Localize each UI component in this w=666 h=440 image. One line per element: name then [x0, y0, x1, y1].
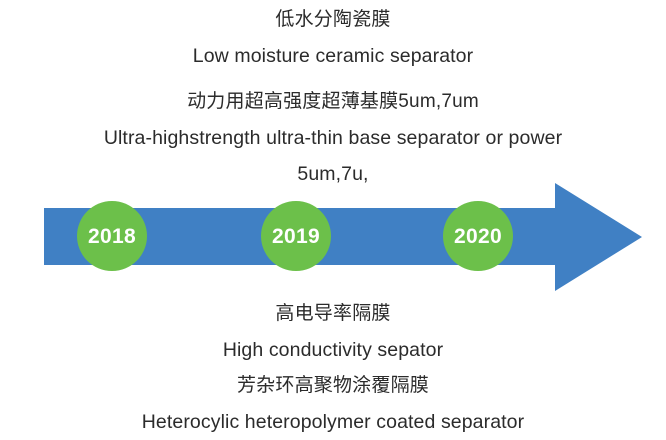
top-text-line-1: 低水分陶瓷膜 — [0, 2, 666, 38]
timeline-diagram: 低水分陶瓷膜 Low moisture ceramic separator 动力… — [0, 0, 666, 439]
timeline-node-2019[interactable]: 2019 — [261, 201, 331, 271]
top-text-line-2: Low moisture ceramic separator — [0, 38, 666, 74]
top-description-block: 低水分陶瓷膜 Low moisture ceramic separator 动力… — [0, 2, 666, 192]
bottom-description-block: 高电导率隔膜 High conductivity sepator 芳杂环高聚物涂… — [0, 296, 666, 440]
top-text-line-3: 动力用超高强度超薄基膜5um,7um — [0, 84, 666, 120]
top-text-line-4: Ultra-highstrength ultra-thin base separ… — [0, 120, 666, 156]
bottom-text-line-3: 芳杂环高聚物涂覆隔膜 — [0, 368, 666, 404]
timeline-node-2018-label: 2018 — [88, 226, 136, 247]
timeline-node-2019-label: 2019 — [272, 226, 320, 247]
timeline-node-2020-label: 2020 — [454, 226, 502, 247]
timeline-node-2018[interactable]: 2018 — [77, 201, 147, 271]
bottom-text-line-4: Heterocylic heteropolymer coated separat… — [0, 404, 666, 440]
bottom-text-line-1: 高电导率隔膜 — [0, 296, 666, 332]
timeline-node-2020[interactable]: 2020 — [443, 201, 513, 271]
bottom-text-line-2: High conductivity sepator — [0, 332, 666, 368]
